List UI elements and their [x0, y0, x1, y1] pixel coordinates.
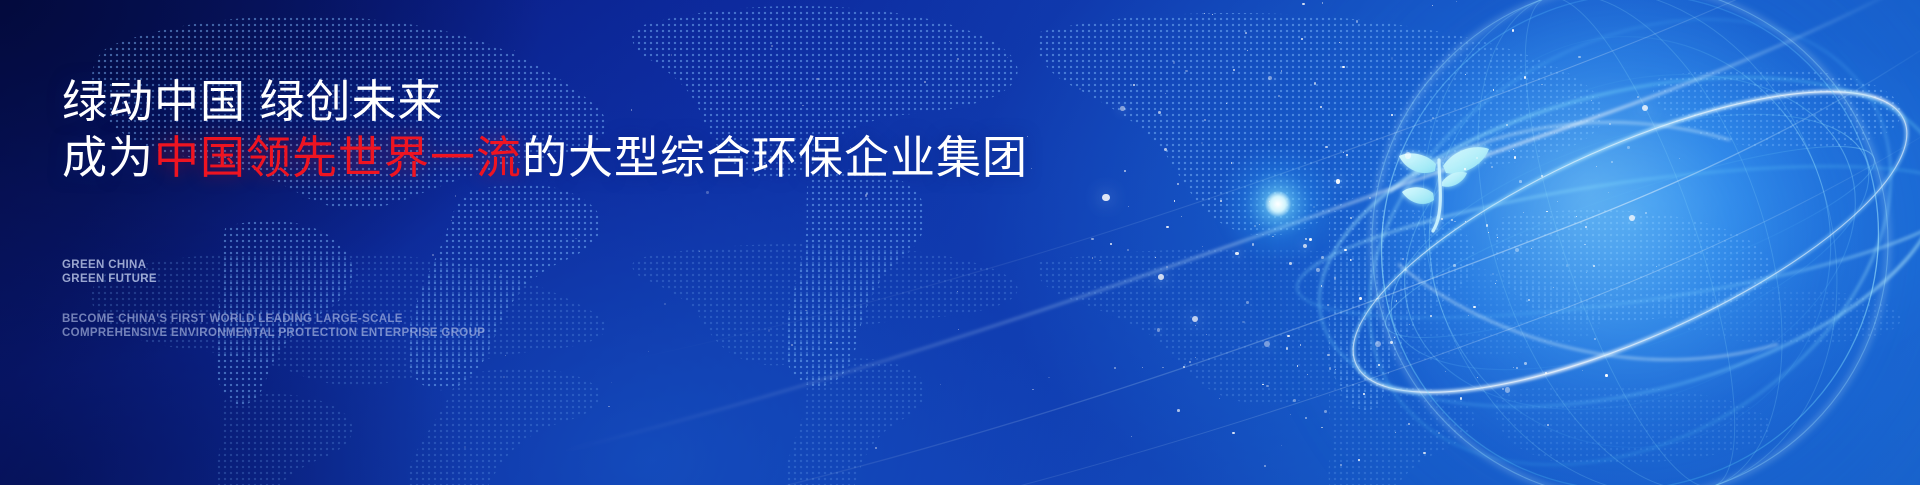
headline-line-1: 绿动中国 绿创未来 [62, 74, 1062, 130]
headline-block: 绿动中国 绿创未来 成为中国领先世界一流的大型综合环保企业集团 [62, 74, 1062, 186]
sprout-icon [1386, 130, 1498, 238]
tagline-en-line-1: GREEN CHINA [62, 258, 157, 272]
sprout-icon-svg [1386, 130, 1498, 238]
tagline-mission: BECOME CHINA'S FIRST WORLD LEADING LARGE… [62, 312, 485, 340]
headline-prefix: 成为 [62, 132, 154, 183]
headline-suffix: 的大型综合环保企业集团 [522, 132, 1028, 183]
tagline-green-china: GREEN CHINA GREEN FUTURE [62, 258, 157, 286]
dotted-world-map-lower [0, 230, 1920, 485]
tagline-long-line-2: COMPREHENSIVE ENVIRONMENTAL PROTECTION E… [62, 326, 485, 340]
light-burst [1277, 203, 1279, 205]
hero-banner: 绿动中国 绿创未来 成为中国领先世界一流的大型综合环保企业集团 GREEN CH… [0, 0, 1920, 485]
tagline-long-line-1: BECOME CHINA'S FIRST WORLD LEADING LARGE… [62, 312, 485, 326]
tagline-en-line-2: GREEN FUTURE [62, 272, 157, 286]
headline-highlight: 中国领先世界一流 [154, 132, 522, 183]
headline-line-2: 成为中国领先世界一流的大型综合环保企业集团 [62, 130, 1062, 186]
